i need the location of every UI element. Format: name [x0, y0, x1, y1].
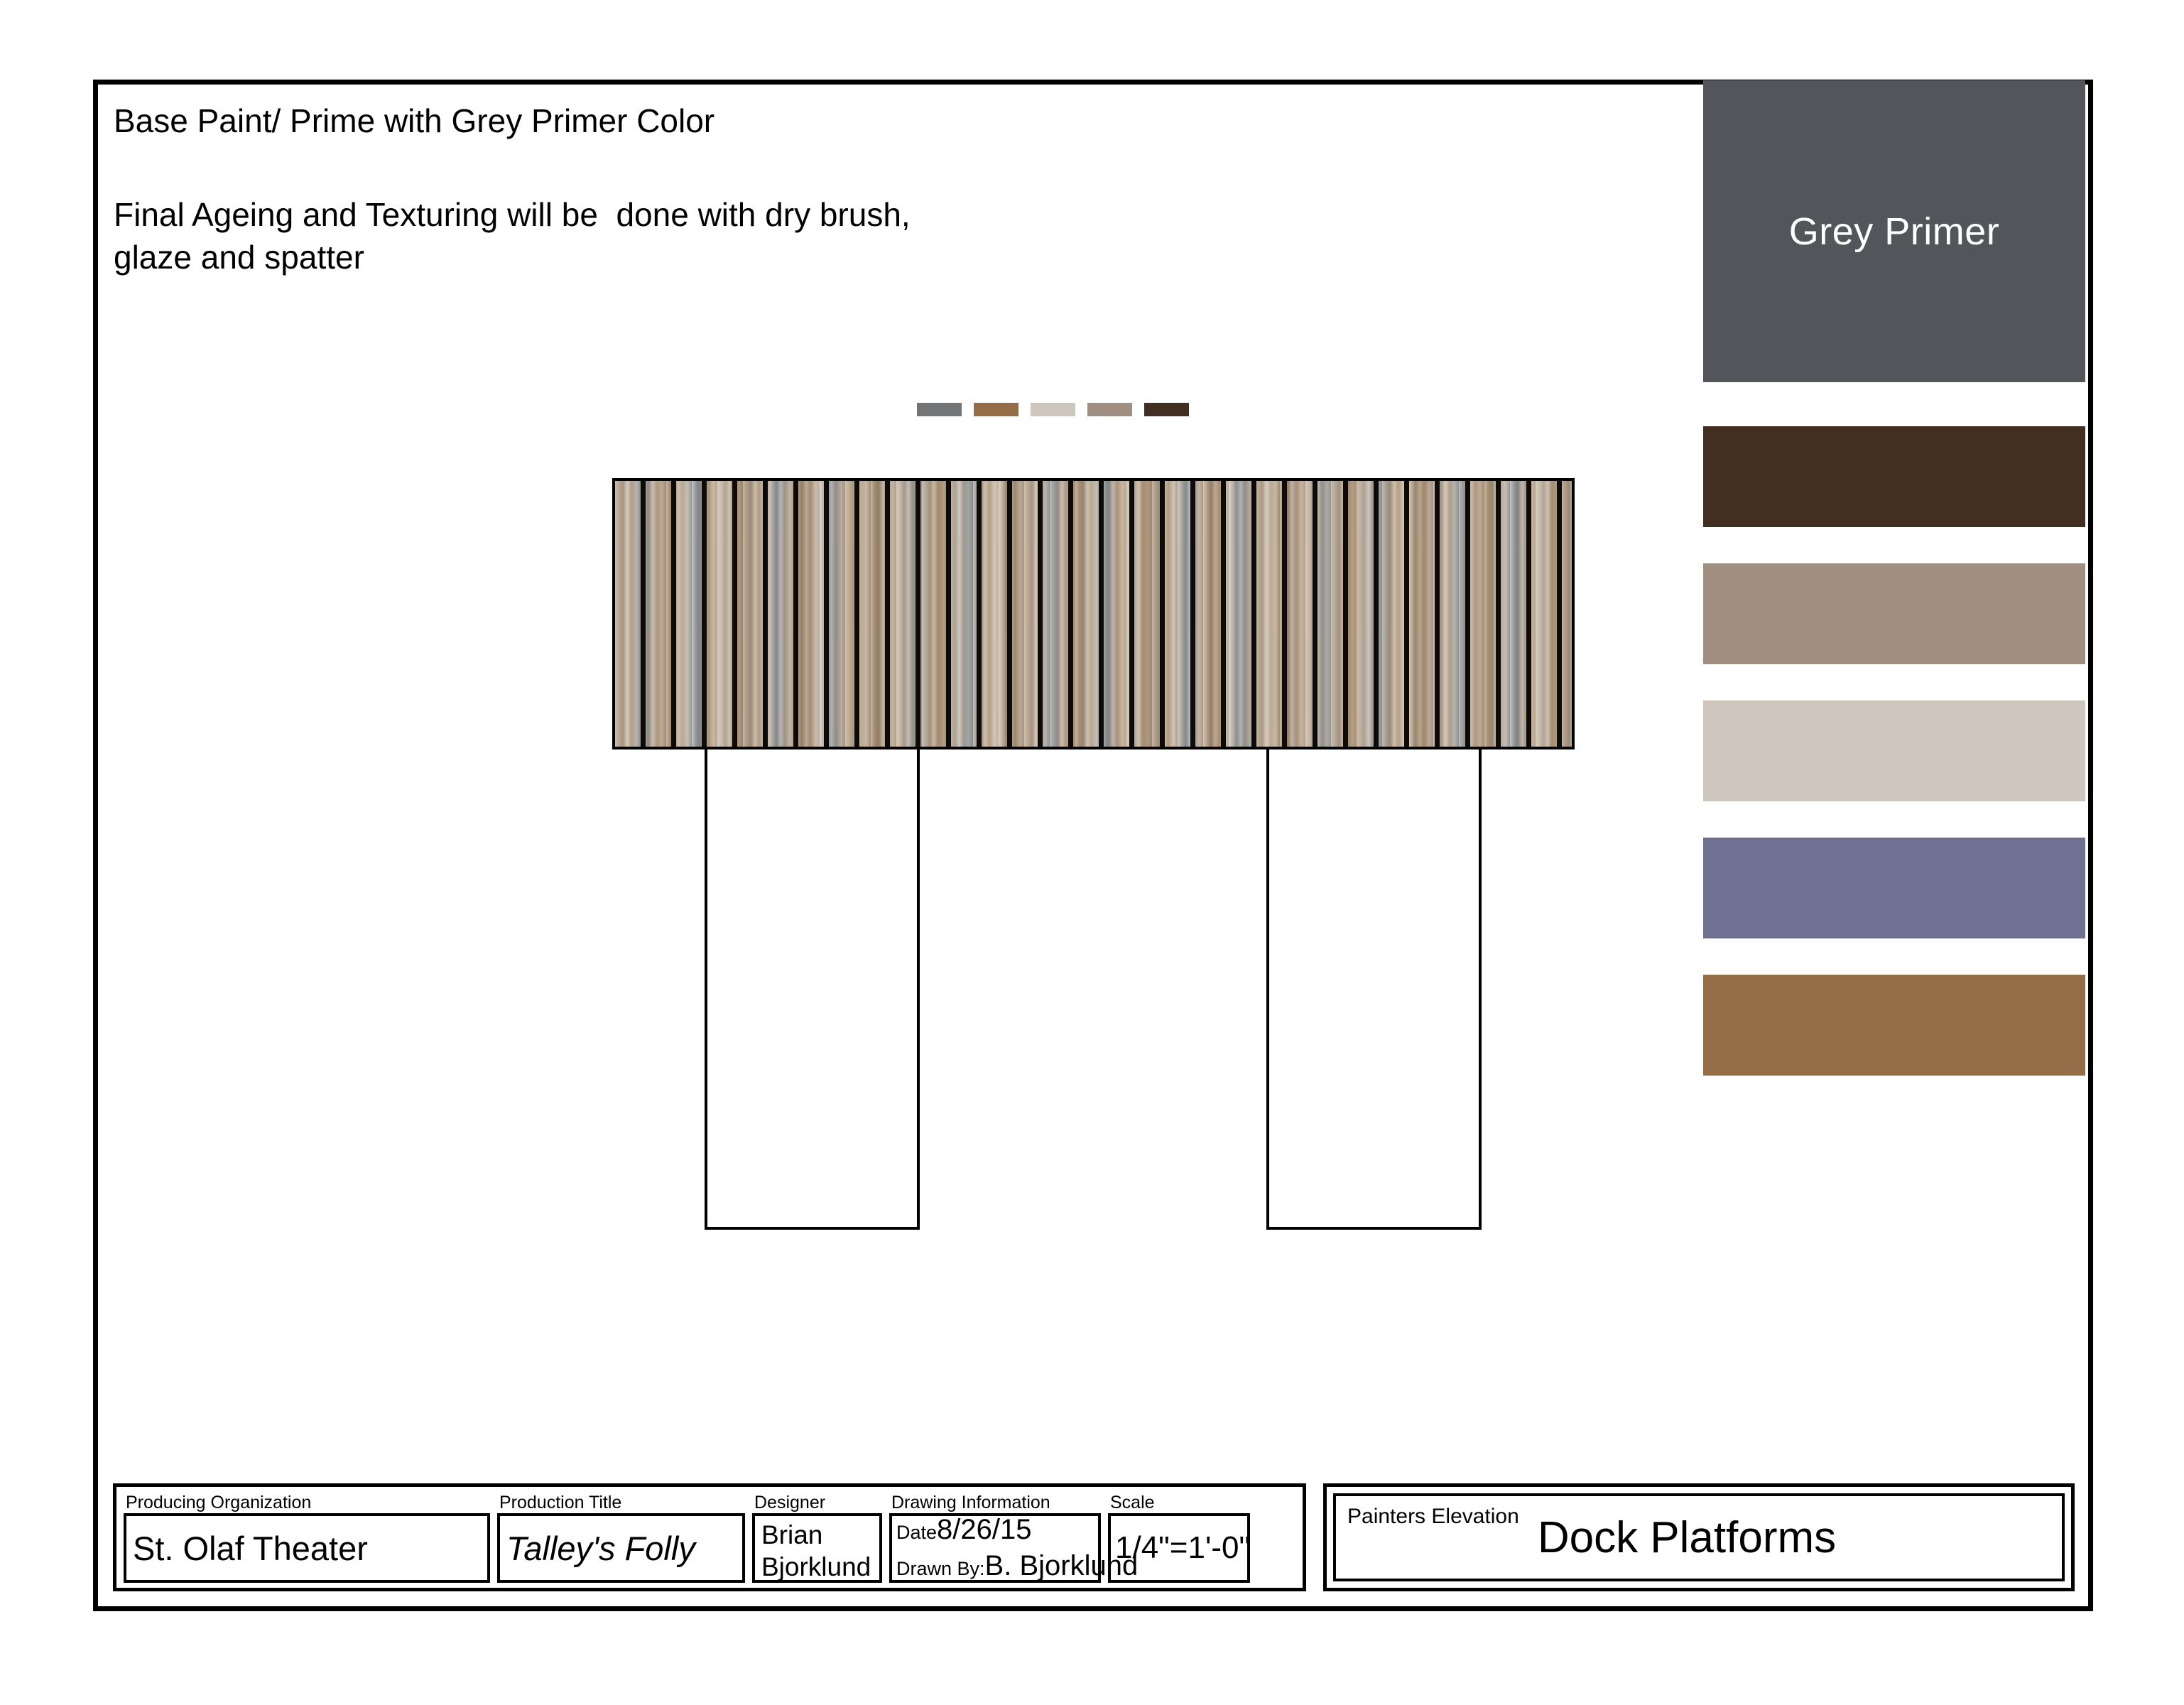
field-scale: Scale 1/4"=1'-0" — [1108, 1492, 1250, 1583]
dock-leg-right — [1266, 747, 1482, 1230]
caption-production-title: Production Title — [497, 1492, 745, 1513]
caption-producing-organization: Producing Organization — [124, 1492, 490, 1513]
row-date: Date 8/26/15 — [896, 1514, 1032, 1546]
caption-scale: Scale — [1108, 1492, 1250, 1513]
swatch-slate-purple — [1703, 838, 2085, 938]
paint-note-line-1: Base Paint/ Prime with Grey Primer Color — [114, 99, 1648, 142]
label-date: Date — [896, 1522, 937, 1544]
caption-painters-elevation: Painters Elevation — [1347, 1505, 1519, 1529]
value-scale: 1/4"=1'-0" — [1115, 1530, 1250, 1566]
mini-palette-strip — [917, 403, 1189, 416]
field-designer: Designer Brian Bjorklund — [752, 1492, 882, 1583]
dock-leg-left — [705, 747, 920, 1230]
row-drawn-by: Drawn By: B. Bjorklund — [896, 1550, 1138, 1582]
caption-drawing-information: Drawing Information — [889, 1492, 1101, 1513]
value-production-title: Talley's Folly — [506, 1529, 695, 1568]
value-producing-organization: St. Olaf Theater — [133, 1529, 368, 1568]
mini-chip-dark-brown — [1144, 403, 1189, 416]
caption-designer: Designer — [752, 1492, 882, 1513]
paint-notes: Base Paint/ Prime with Grey Primer Color… — [114, 99, 1648, 278]
value-box-producing-organization: St. Olaf Theater — [124, 1513, 490, 1583]
value-designer: Brian Bjorklund — [761, 1519, 871, 1583]
drawing-title-inner: Painters Elevation Dock Platforms — [1333, 1493, 2065, 1581]
title-block: Producing Organization St. Olaf Theater … — [113, 1483, 2075, 1591]
mini-chip-grey — [917, 403, 962, 416]
field-drawing-information: Drawing Information Date 8/26/15 Drawn B… — [889, 1492, 1101, 1583]
value-box-designer: Brian Bjorklund — [752, 1513, 882, 1583]
swatch-taupe — [1703, 563, 2085, 664]
mini-chip-medium-brown — [974, 403, 1018, 416]
deck-platform — [612, 478, 1575, 749]
value-box-scale: 1/4"=1'-0" — [1108, 1513, 1250, 1583]
swatch-grey-primer-label: Grey Primer — [1789, 210, 2000, 254]
mini-chip-light-beige — [1031, 403, 1075, 416]
value-drawing-title: Dock Platforms — [1538, 1512, 1836, 1563]
drawing-title-panel: Painters Elevation Dock Platforms — [1323, 1483, 2075, 1591]
color-swatch-column: Grey Primer — [1703, 80, 2085, 1112]
value-box-drawing-information: Date 8/26/15 Drawn By: B. Bjorklund — [889, 1513, 1101, 1583]
field-producing-organization: Producing Organization St. Olaf Theater — [124, 1492, 490, 1583]
value-date: 8/26/15 — [937, 1514, 1031, 1546]
title-block-fields: Producing Organization St. Olaf Theater … — [113, 1483, 1306, 1591]
value-box-production-title: Talley's Folly — [497, 1513, 745, 1583]
mini-chip-taupe — [1087, 403, 1132, 416]
paint-note-line-2: Final Ageing and Texturing will be done … — [114, 193, 1648, 278]
swatch-dark-brown — [1703, 426, 2085, 527]
label-drawn-by: Drawn By: — [896, 1558, 985, 1580]
swatch-light-beige — [1703, 700, 2085, 801]
field-production-title: Production Title Talley's Folly — [497, 1492, 745, 1583]
swatch-grey-primer: Grey Primer — [1703, 80, 2085, 382]
dock-platforms-drawing — [612, 478, 1575, 1230]
swatch-medium-brown — [1703, 975, 2085, 1076]
